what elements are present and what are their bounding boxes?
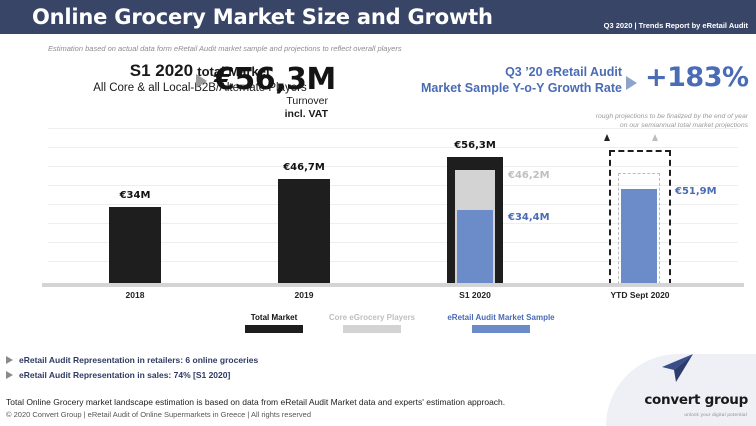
legend-swatch-total-market xyxy=(245,325,303,333)
bar-label-ytd-sept-2020-eretail-audit-sample: €51,9M xyxy=(675,186,717,197)
bar-label-s1-2020-core-egrocery: €46,2M xyxy=(508,170,550,181)
bar-chart: €34M 2018 €46,7M 2019 €56,3M €46,2M €34,… xyxy=(0,128,756,308)
paper-plane-icon xyxy=(660,353,694,388)
header-divider xyxy=(0,34,756,36)
kpi-right-value: +183% xyxy=(645,62,749,93)
kpi-left-line4: incl. VAT xyxy=(0,108,400,121)
bar-label-2018-total-market: €34M xyxy=(108,190,162,201)
triangle-right-blue-icon xyxy=(626,74,637,92)
bullet-list: eRetail Audit Representation in retailer… xyxy=(6,355,258,385)
bullet-text-sales: eRetail Audit Representation in sales: 7… xyxy=(19,370,230,380)
footer-line-1: Total Online Grocery market landscape es… xyxy=(6,396,505,409)
legend-label-eretail-audit-sample: eRetail Audit Market Sample xyxy=(413,312,589,323)
bar-label-2019-total-market: €46,7M xyxy=(272,162,336,173)
logo-tagline: unlock your digital potential xyxy=(684,412,747,417)
list-item: eRetail Audit Representation in retailer… xyxy=(6,355,258,365)
list-item: eRetail Audit Representation in sales: 7… xyxy=(6,370,258,380)
chart-baseline-axis xyxy=(42,283,744,287)
page-title: Online Grocery Market Size and Growth xyxy=(32,4,493,30)
kpi-left-line3: Turnover xyxy=(0,95,400,108)
header-meta: Q3 2020 | Trends Report by eRetail Audit xyxy=(604,21,748,30)
kpi-right-label-line1: Q3 ’20 eRetail Audit xyxy=(390,64,622,80)
bar-label-s1-2020-eretail-audit-sample: €34,4M xyxy=(508,212,550,223)
slide-root: Online Grocery Market Size and Growth Q3… xyxy=(0,0,756,426)
kpi-left-title-strong: S1 2020 xyxy=(130,61,193,80)
triangle-right-icon xyxy=(196,72,207,90)
footer: Total Online Grocery market landscape es… xyxy=(6,396,505,421)
bar-s1-2020-eretail-audit-sample xyxy=(457,210,493,283)
header-bar: Online Grocery Market Size and Growth Q3… xyxy=(0,0,756,34)
kpi-left-block: S1 2020 total Market All Core & all Loca… xyxy=(0,62,400,121)
chart-legend: Total Market Core eGrocery Players eReta… xyxy=(0,312,756,340)
category-label-2018: 2018 xyxy=(108,290,162,300)
footer-line-2: © 2020 Convert Group | eRetail Audit of … xyxy=(6,409,505,421)
legend-swatch-eretail-audit-sample xyxy=(472,325,530,333)
bar-2018-total-market xyxy=(109,207,161,283)
triangle-bullet-icon xyxy=(6,356,13,364)
kpi-right-label: Q3 ’20 eRetail Audit Market Sample Y-o-Y… xyxy=(390,64,622,96)
bar-ytd-sept-2020-eretail-audit-sample xyxy=(621,189,657,283)
projection-note-line1: rough projections to be finalized by the… xyxy=(596,112,748,121)
legend-item-eretail-audit-sample[interactable]: eRetail Audit Market Sample xyxy=(413,312,589,333)
bar-label-s1-2020-total-market: €56,3M xyxy=(443,140,507,151)
logo-name: convert group xyxy=(644,392,748,408)
bullet-text-retailers: eRetail Audit Representation in retailer… xyxy=(19,355,258,365)
legend-swatch-core-egrocery xyxy=(343,325,401,333)
triangle-bullet-icon xyxy=(6,371,13,379)
category-label-ytd-sept-2020: YTD Sept 2020 xyxy=(600,290,680,300)
kpi-left-value: €56,3M xyxy=(214,62,336,97)
category-label-2019: 2019 xyxy=(272,290,336,300)
estimation-note: Estimation based on actual data form eRe… xyxy=(48,44,402,53)
kpi-right-label-line2: Market Sample Y-o-Y Growth Rate xyxy=(390,80,622,96)
category-label-s1-2020: S1 2020 xyxy=(443,290,507,300)
bar-2019-total-market xyxy=(278,179,330,283)
